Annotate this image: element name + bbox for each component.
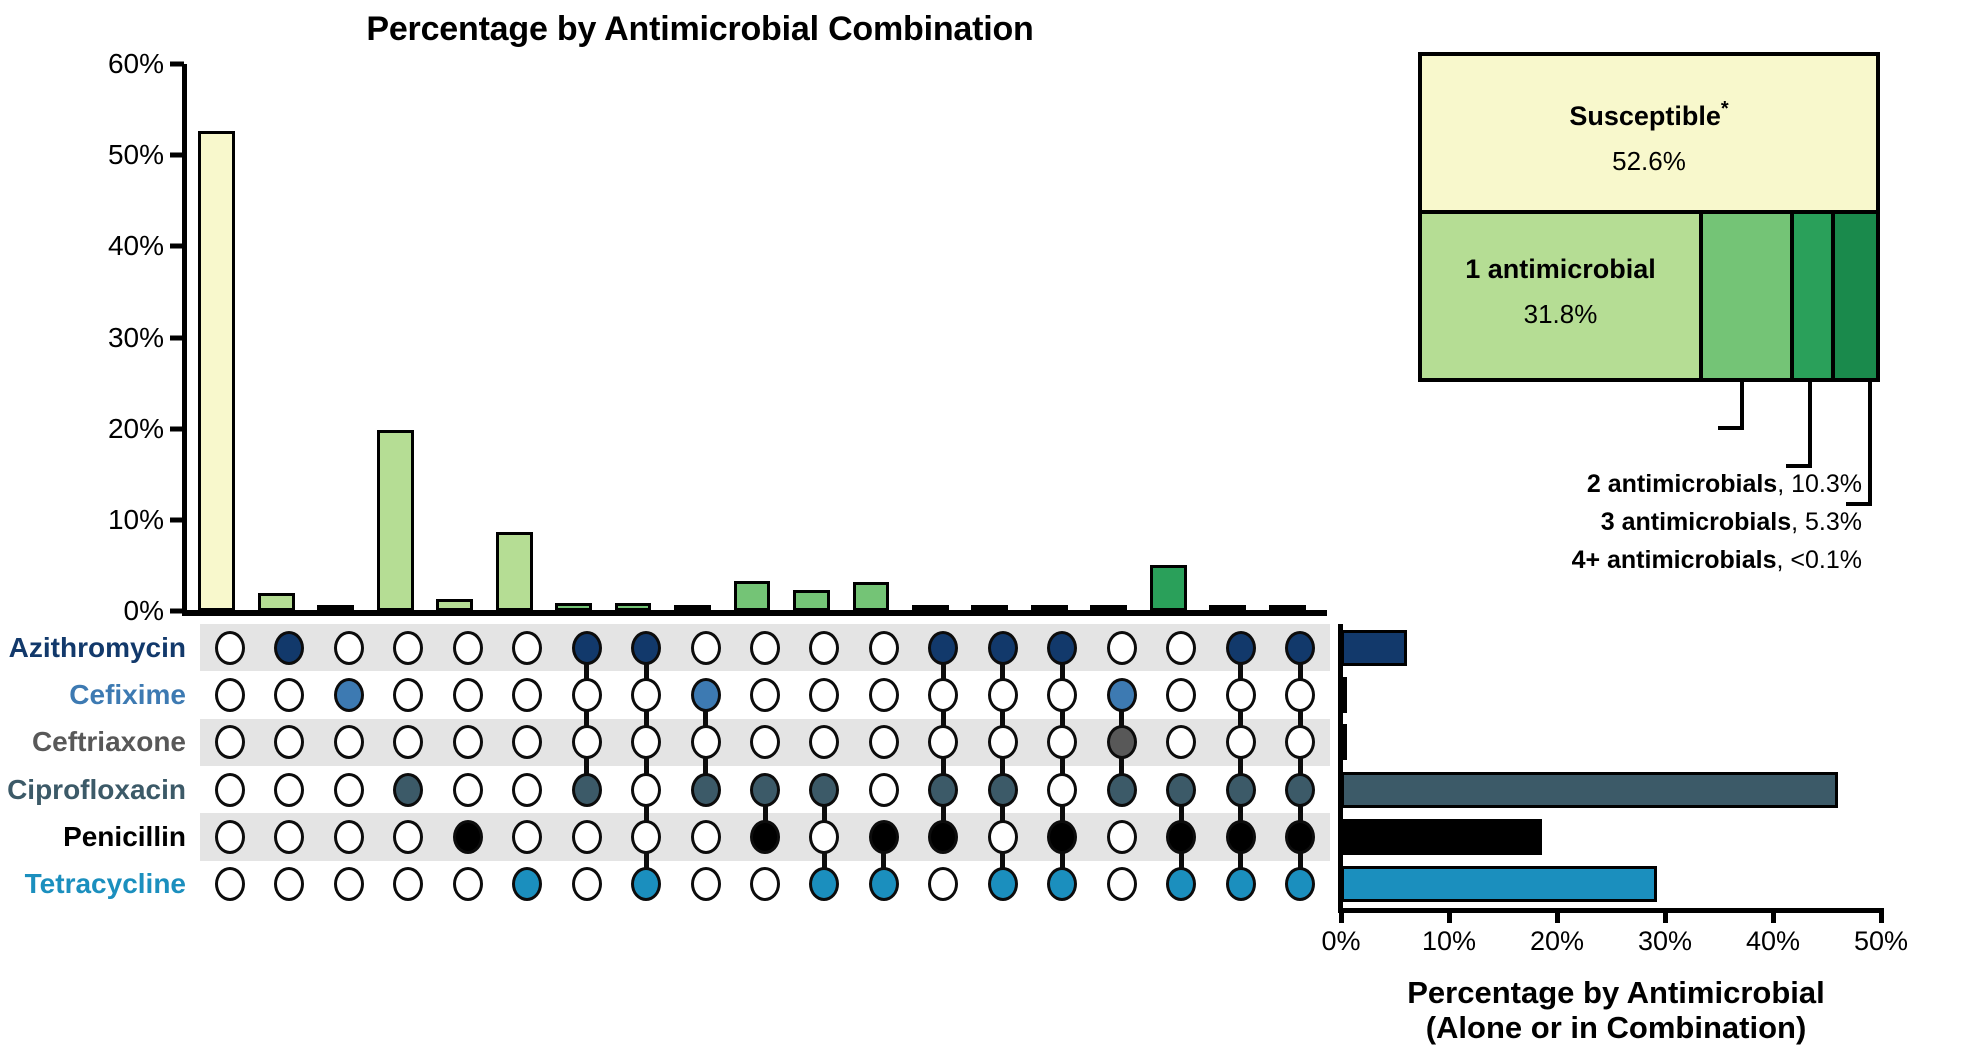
hbar-tickmark-0 <box>1339 908 1344 923</box>
matrix-dot-empty <box>1226 725 1256 759</box>
antimicrobial-total-bar-chart: 0%10%20%30%40%50% Percentage by Antimicr… <box>1330 624 1966 1054</box>
treemap-frame: Susceptible* 52.6% 1 antimicrobial 31.8% <box>1418 52 1880 382</box>
matrix-dot-empty <box>1107 631 1137 665</box>
matrix-dot-empty <box>512 773 542 807</box>
matrix-dot-empty <box>750 631 780 665</box>
combination-bar-chart: 60%50%40%30%20%10%0% <box>0 64 1330 620</box>
matrix-dot-empty <box>215 820 245 854</box>
leader-line-three-h <box>1786 464 1812 468</box>
combination-bar <box>971 605 1008 611</box>
matrix-dot-filled <box>631 631 661 665</box>
matrix-dot-empty <box>453 867 483 901</box>
matrix-dot-empty <box>809 631 839 665</box>
treemap-annotation-row: 3 antimicrobials, 5.3% <box>1601 508 1862 537</box>
treemap-cell-four-plus-antimicrobials <box>1835 214 1876 378</box>
combination-bar <box>793 590 830 611</box>
matrix-dot-filled <box>1166 867 1196 901</box>
hbar-tick-label-40: 40% <box>1746 926 1800 957</box>
combination-bar <box>198 131 235 611</box>
treemap-susceptible-asterisk: * <box>1721 98 1729 120</box>
hbar-tickmark-10 <box>1447 908 1452 923</box>
matrix-dot-empty <box>215 773 245 807</box>
matrix-dot-filled <box>691 773 721 807</box>
antimicrobial-total-bar <box>1341 772 1838 808</box>
matrix-dot-filled <box>1226 631 1256 665</box>
matrix-dot-empty <box>631 820 661 854</box>
matrix-dot-empty <box>215 678 245 712</box>
matrix-dot-empty <box>334 867 364 901</box>
matrix-dot-filled <box>1047 867 1077 901</box>
matrix-dot-empty <box>572 820 602 854</box>
y-axis-tickmark-60 <box>170 62 184 67</box>
y-axis-tick-0: 0% <box>124 595 164 627</box>
matrix-dot-filled <box>572 773 602 807</box>
matrix-dot-empty <box>393 631 423 665</box>
y-axis-tick-30: 30% <box>108 322 164 354</box>
combination-bar <box>555 603 592 611</box>
matrix-dot-empty <box>453 631 483 665</box>
treemap-annotation-row: 2 antimicrobials, 10.3% <box>1587 470 1862 499</box>
hbar-title-line-1: Percentage by Antimicrobial <box>1306 976 1926 1011</box>
annotation-value: , 5.3% <box>1791 508 1862 536</box>
antimicrobial-total-bar <box>1341 819 1542 855</box>
y-axis-tickmark-20 <box>170 426 184 431</box>
horizontal-bars-container: 0%10%20%30%40%50% <box>1330 624 1890 908</box>
matrix-dot-filled <box>1047 631 1077 665</box>
matrix-dot-empty <box>274 678 304 712</box>
hbar-tick-label-50: 50% <box>1854 926 1908 957</box>
matrix-dot-empty <box>334 773 364 807</box>
combination-bars-container <box>187 64 1327 611</box>
combination-bar <box>1150 565 1187 611</box>
y-axis-tick-20: 20% <box>108 413 164 445</box>
annotation-value: , 10.3% <box>1777 470 1862 498</box>
matrix-dot-filled <box>869 867 899 901</box>
matrix-dot-filled <box>393 773 423 807</box>
matrix-dot-filled <box>1107 773 1137 807</box>
antimicrobial-row-labels: AzithromycinCefiximeCeftriaxoneCiproflox… <box>0 624 200 908</box>
resistance-treemap: Susceptible* 52.6% 1 antimicrobial 31.8% <box>1418 52 1890 382</box>
treemap-one-label: 1 antimicrobial <box>1422 254 1699 285</box>
combination-bar <box>377 430 414 611</box>
matrix-dot-empty <box>691 631 721 665</box>
combination-bar <box>258 593 295 611</box>
hbar-tick-label-10: 10% <box>1422 926 1476 957</box>
matrix-dot-empty <box>691 725 721 759</box>
leader-line-three <box>1808 382 1812 468</box>
hbar-x-axis-line <box>1338 908 1884 913</box>
row-label-cefixime: Cefixime <box>69 678 186 712</box>
treemap-one-value: 31.8% <box>1422 299 1699 330</box>
matrix-dot-empty <box>1107 820 1137 854</box>
matrix-dot-empty <box>1047 678 1077 712</box>
y-axis-tickmark-40 <box>170 244 184 249</box>
matrix-dot-empty <box>572 725 602 759</box>
matrix-dot-empty <box>453 678 483 712</box>
matrix-dot-filled <box>691 678 721 712</box>
y-axis-tickmark-0 <box>170 609 184 614</box>
matrix-dot-filled <box>1285 867 1315 901</box>
matrix-dot-filled <box>453 820 483 854</box>
y-axis-tick-labels: 60%50%40%30%20%10%0% <box>0 64 178 620</box>
combination-bar <box>912 605 949 611</box>
matrix-dot-filled <box>750 773 780 807</box>
matrix-dot-empty <box>453 773 483 807</box>
matrix-dot-empty <box>274 773 304 807</box>
treemap-cell-two-antimicrobials <box>1703 214 1794 378</box>
matrix-dot-empty <box>869 773 899 807</box>
membership-dot-grid <box>200 624 1330 908</box>
matrix-dot-empty <box>928 867 958 901</box>
matrix-dot-empty <box>1166 678 1196 712</box>
matrix-dot-empty <box>1047 773 1077 807</box>
antimicrobial-total-bar <box>1341 630 1407 666</box>
matrix-dot-filled <box>1285 773 1315 807</box>
matrix-dot-filled <box>1107 725 1137 759</box>
matrix-dot-empty <box>274 867 304 901</box>
matrix-dot-filled <box>928 773 958 807</box>
matrix-dot-empty <box>691 867 721 901</box>
matrix-dot-empty <box>1226 678 1256 712</box>
treemap-annotation-row: 4+ antimicrobials, <0.1% <box>1572 546 1862 575</box>
hbar-tick-label-30: 30% <box>1638 926 1692 957</box>
combination-bar <box>734 581 771 611</box>
hbar-tickmark-30 <box>1663 908 1668 923</box>
combination-bar <box>1090 605 1127 611</box>
matrix-dot-empty <box>750 678 780 712</box>
matrix-dot-filled <box>809 867 839 901</box>
antimicrobial-total-bar <box>1341 724 1347 760</box>
treemap-cell-susceptible: Susceptible* 52.6% <box>1422 56 1876 214</box>
matrix-dot-empty <box>572 678 602 712</box>
matrix-dot-empty <box>869 678 899 712</box>
treemap-annotation-list: 2 antimicrobials, 10.3%3 antimicrobials,… <box>1392 470 1966 590</box>
matrix-dot-empty <box>453 725 483 759</box>
antimicrobial-total-bar <box>1341 866 1657 902</box>
antimicrobial-total-bar <box>1341 677 1347 713</box>
hbar-tickmark-20 <box>1555 908 1560 923</box>
matrix-dot-empty <box>631 678 661 712</box>
matrix-dot-filled <box>1226 820 1256 854</box>
combination-bar <box>1269 605 1306 611</box>
y-axis-tick-50: 50% <box>108 139 164 171</box>
matrix-dot-empty <box>750 867 780 901</box>
y-axis-tickmark-30 <box>170 335 184 340</box>
hbar-tick-label-20: 20% <box>1530 926 1584 957</box>
matrix-dot-filled <box>572 631 602 665</box>
matrix-dot-filled <box>274 631 304 665</box>
matrix-dot-filled <box>334 678 364 712</box>
treemap-cell-three-antimicrobials <box>1794 214 1835 378</box>
matrix-dot-filled <box>1285 631 1315 665</box>
row-label-ciprofloxacin: Ciprofloxacin <box>7 773 186 807</box>
annotation-count-label: 4+ antimicrobials <box>1572 546 1777 574</box>
annotation-count-label: 2 antimicrobials <box>1587 470 1777 498</box>
combination-bar <box>1209 605 1246 611</box>
hbar-axis-title: Percentage by Antimicrobial (Alone or in… <box>1306 976 1926 1045</box>
matrix-dot-empty <box>215 631 245 665</box>
row-label-azithromycin: Azithromycin <box>9 631 186 665</box>
matrix-dot-empty <box>334 820 364 854</box>
upset-plot-figure: Percentage by Antimicrobial Combination … <box>0 0 1966 1054</box>
matrix-dot-empty <box>988 678 1018 712</box>
combination-bar <box>1031 605 1068 611</box>
matrix-dot-filled <box>1166 773 1196 807</box>
matrix-dot-filled <box>928 631 958 665</box>
matrix-dot-filled <box>631 867 661 901</box>
matrix-dot-empty <box>691 820 721 854</box>
y-axis-tick-10: 10% <box>108 504 164 536</box>
matrix-dot-empty <box>809 678 839 712</box>
matrix-dot-empty <box>928 678 958 712</box>
leader-line-two-h <box>1718 426 1744 430</box>
matrix-dot-empty <box>215 725 245 759</box>
matrix-dot-filled <box>809 773 839 807</box>
combination-bar <box>436 599 473 611</box>
row-label-tetracycline: Tetracycline <box>25 867 186 901</box>
y-axis-tickmark-50 <box>170 153 184 158</box>
matrix-dot-empty <box>631 773 661 807</box>
matrix-dot-empty <box>1107 867 1137 901</box>
matrix-connector-line <box>584 648 589 790</box>
leader-line-two <box>1740 382 1744 430</box>
matrix-dot-filled <box>869 820 899 854</box>
annotation-count-label: 3 antimicrobials <box>1601 508 1791 536</box>
matrix-dot-empty <box>988 820 1018 854</box>
matrix-dot-empty <box>869 631 899 665</box>
matrix-dot-filled <box>1107 678 1137 712</box>
main-chart-title: Percentage by Antimicrobial Combination <box>220 10 1180 49</box>
matrix-dot-filled <box>988 867 1018 901</box>
hbar-tickmark-50 <box>1879 908 1884 923</box>
matrix-dot-empty <box>512 678 542 712</box>
combination-bar <box>615 603 652 611</box>
matrix-dot-empty <box>393 678 423 712</box>
treemap-susceptible-value: 52.6% <box>1422 146 1876 177</box>
combination-bar <box>317 605 354 611</box>
y-axis-tick-40: 40% <box>108 230 164 262</box>
matrix-dot-empty <box>1285 678 1315 712</box>
matrix-dot-filled <box>988 631 1018 665</box>
row-label-ceftriaxone: Ceftriaxone <box>32 725 186 759</box>
matrix-dot-filled <box>1226 867 1256 901</box>
combination-bar <box>496 532 533 611</box>
matrix-dot-empty <box>334 725 364 759</box>
annotation-value: , <0.1% <box>1777 546 1862 574</box>
hbar-tickmark-40 <box>1771 908 1776 923</box>
y-axis-tick-60: 60% <box>108 48 164 80</box>
matrix-dot-empty <box>393 867 423 901</box>
matrix-dot-filled <box>512 867 542 901</box>
matrix-dot-empty <box>512 631 542 665</box>
matrix-dot-filled <box>750 820 780 854</box>
combination-bar <box>674 605 711 611</box>
hbar-tick-label-0: 0% <box>1321 926 1360 957</box>
matrix-dot-empty <box>572 867 602 901</box>
matrix-dot-empty <box>334 631 364 665</box>
matrix-dot-filled <box>1226 773 1256 807</box>
treemap-susceptible-label: Susceptible <box>1569 101 1721 131</box>
treemap-cell-one-antimicrobial: 1 antimicrobial 31.8% <box>1422 214 1703 378</box>
upset-membership-matrix: AzithromycinCefiximeCeftriaxoneCiproflox… <box>0 624 1330 908</box>
hbar-title-line-2: (Alone or in Combination) <box>1306 1011 1926 1046</box>
matrix-dot-empty <box>393 820 423 854</box>
y-axis-tickmark-10 <box>170 517 184 522</box>
matrix-dot-empty <box>1166 631 1196 665</box>
matrix-dot-empty <box>988 725 1018 759</box>
matrix-dot-empty <box>512 820 542 854</box>
combination-bar <box>853 582 890 611</box>
matrix-dot-filled <box>988 773 1018 807</box>
matrix-dot-empty <box>215 867 245 901</box>
row-label-penicillin: Penicillin <box>63 820 186 854</box>
matrix-dot-empty <box>274 820 304 854</box>
